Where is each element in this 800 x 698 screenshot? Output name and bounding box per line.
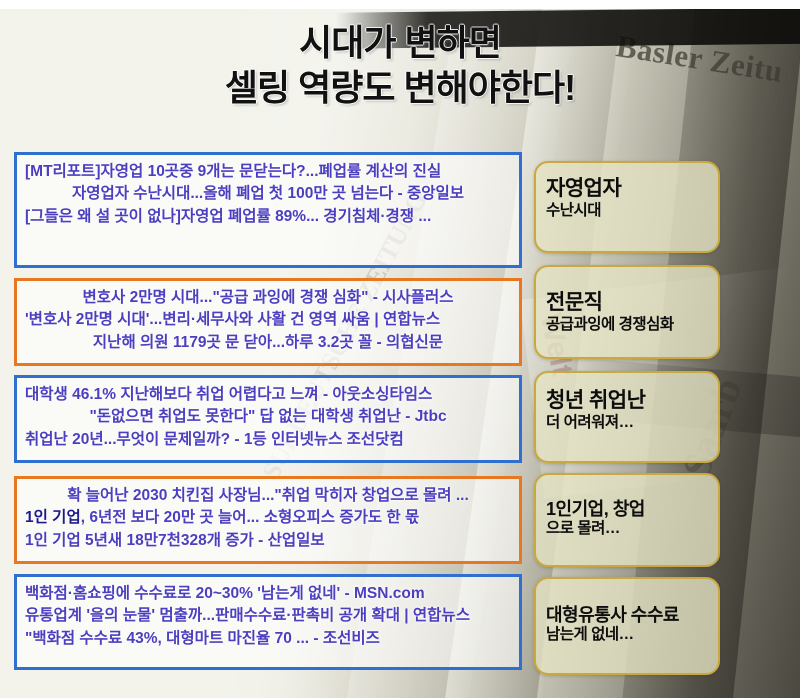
headline-line: 취업난 20년...무엇이 문제일까? - 1등 인터넷뉴스 조선닷컴 [25, 429, 511, 451]
headline-line: "돈없으면 취업도 못한다" 답 없는 대학생 취업난 - Jtbc [25, 406, 511, 428]
top-white-strip [0, 0, 800, 9]
headline-line: '변호사 2만명 시대'...변리·세무사와 사활 건 영역 싸움 | 연합뉴스 [25, 309, 511, 331]
summary-tag-headline: 전문직 [546, 291, 708, 316]
summary-tag-sub: 수난시대 [546, 202, 708, 221]
headline-box-2: 변호사 2만명 시대..."공급 과잉에 경쟁 심화" - 시사플러스 '변호사… [14, 278, 522, 366]
headline-line: 변호사 2만명 시대..."공급 과잉에 경쟁 심화" - 시사플러스 [25, 287, 511, 309]
slide-canvas: SUDDEUTSCHE ZEITUNG Welt Saarb Basler Ze… [0, 0, 800, 698]
headline-box-5: 백화점·홈쇼핑에 수수료로 20~30% '남는게 없네' - MSN.com … [14, 574, 522, 670]
headline-line: 확 늘어난 2030 치킨집 사장님..."취업 막히자 창업으로 몰려 ... [25, 485, 511, 507]
headline-line: 유통업계 '을의 눈물' 멈출까...판매수수료·판촉비 공개 확대 | 연합뉴… [25, 605, 511, 627]
summary-tag-headline: 청년 취업난 [546, 389, 708, 414]
headline-box-4: 확 늘어난 2030 치킨집 사장님..."취업 막히자 창업으로 몰려 ...… [14, 476, 522, 564]
headline-line: "백화점 수수료 43%, 대형마트 마진율 70 ... - 조선비즈 [25, 628, 511, 650]
summary-tag-sub: 남는게 없네… [546, 626, 708, 645]
headline-line: 지난해 의원 1179곳 문 닫아...하루 3.2곳 꼴 - 의협신문 [25, 332, 511, 354]
headline-line: 대학생 46.1% 지난해보다 취업 어렵다고 느껴 - 아웃소싱타임스 [25, 384, 511, 406]
headline-line-bolded: 1인 기업, 6년전 보다 20만 곳 늘어... 소형오피스 증가도 한 몫 [25, 507, 511, 529]
summary-tag-sub: 공급과잉에 경쟁심화 [546, 316, 708, 335]
summary-tag-5: 대형유통사 수수료 남는게 없네… [534, 577, 720, 675]
summary-tag-headline: 대형유통사 수수료 [546, 605, 708, 626]
headline-box-1: [MT리포트]자영업 10곳중 9개는 문닫는다?...폐업률 계산의 진실 자… [14, 152, 522, 268]
headline-line: [MT리포트]자영업 10곳중 9개는 문닫는다?...폐업률 계산의 진실 [25, 161, 511, 183]
summary-tag-sub: 으로 몰려… [546, 520, 708, 539]
summary-tag-sub: 더 어려워져… [546, 414, 708, 433]
photo-dark-band [335, 7, 800, 48]
headline-line: 자영업자 수난시대...올해 폐업 첫 100만 곳 넘는다 - 중앙일보 [25, 183, 511, 205]
summary-tag-2: 전문직 공급과잉에 경쟁심화 [534, 265, 720, 359]
headline-bold-prefix: 1인 기업 [25, 509, 81, 526]
summary-tag-1: 자영업자 수난시대 [534, 161, 720, 253]
headline-box-3: 대학생 46.1% 지난해보다 취업 어렵다고 느껴 - 아웃소싱타임스 "돈없… [14, 375, 522, 463]
headline-line: 백화점·홈쇼핑에 수수료로 20~30% '남는게 없네' - MSN.com [25, 583, 511, 605]
headline-line: 1인 기업 5년새 18만7천328개 증가 - 산업일보 [25, 530, 511, 552]
headline-line: [그들은 왜 설 곳이 없나]자영업 폐업률 89%... 경기침체·경쟁 ..… [25, 206, 511, 228]
summary-tag-4: 1인기업, 창업 으로 몰려… [534, 473, 720, 567]
headline-rest: , 6년전 보다 20만 곳 늘어... 소형오피스 증가도 한 몫 [81, 509, 420, 526]
summary-tag-headline: 1인기업, 창업 [546, 499, 708, 520]
summary-tag-3: 청년 취업난 더 어려워져… [534, 371, 720, 463]
summary-tag-headline: 자영업자 [546, 177, 708, 202]
